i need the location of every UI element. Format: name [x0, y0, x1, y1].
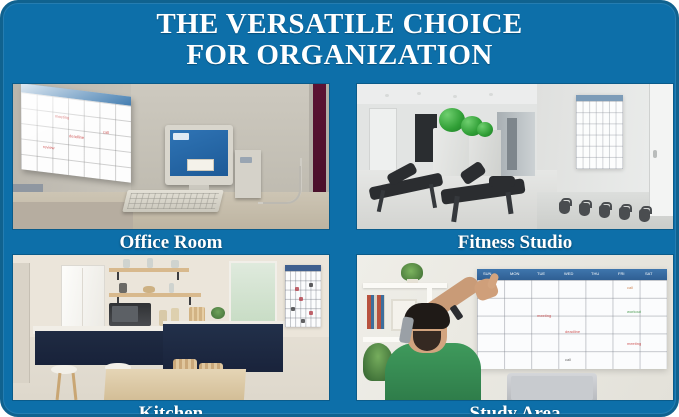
panel-study-area: SUN MON TUE WED THU FRI SAT review call …: [357, 255, 673, 417]
ceiling-light-icon: [489, 93, 493, 96]
calendar-glare: [21, 84, 131, 183]
potted-plant: [211, 307, 225, 319]
microwave: [109, 303, 151, 326]
calendar-note: call: [627, 285, 633, 290]
laptop-screen: [511, 376, 593, 400]
ceiling-light-icon: [385, 94, 389, 97]
office-desk-side: [13, 202, 133, 229]
kitchen-window: [229, 261, 277, 327]
office-cables: [263, 166, 301, 204]
shelf-bowl: [143, 286, 155, 293]
photo-study-area: SUN MON TUE WED THU FRI SAT review call …: [357, 255, 673, 400]
shelf-jar: [147, 258, 153, 268]
calendar-day-thu: THU: [591, 271, 599, 276]
title-line-2: FOR ORGANIZATION: [3, 40, 676, 71]
calendar-day-tue: TUE: [537, 271, 545, 276]
calendar-note: workout: [627, 309, 641, 314]
caption-study-area: Study Area: [357, 401, 673, 417]
shelf-jar: [169, 283, 174, 293]
office-monitor: [165, 125, 233, 185]
calendar-mark: [295, 287, 299, 291]
calendar-mark: [301, 319, 305, 323]
fridge-door-split: [82, 268, 83, 328]
panel-kitchen: Kitchen: [13, 255, 329, 417]
tower-label-icon: [240, 157, 252, 163]
caption-office-room: Office Room: [13, 230, 329, 256]
calendar-day-fri: FRI: [618, 271, 624, 276]
ceiling-light-icon: [453, 95, 457, 98]
calendar-note: deadline: [565, 329, 580, 334]
sticky-note: [187, 159, 214, 171]
calendar-note: meeting: [627, 341, 641, 346]
caption-kitchen: Kitchen: [13, 401, 329, 417]
calendar-mark: [309, 311, 313, 315]
door-handle-icon: [653, 150, 657, 158]
wall-shelf: [109, 268, 189, 272]
poster-container: THE VERSATILE CHOICE FOR ORGANIZATION me…: [0, 0, 679, 417]
calendar-note: call: [565, 357, 571, 362]
kettlebell: [559, 201, 570, 214]
bench-pad: [489, 176, 515, 187]
calendar-day-sat: SAT: [645, 271, 652, 276]
photo-office-room: meeting deadline call review: [13, 84, 329, 229]
kitchen-wall-calendar: [285, 265, 321, 327]
kitchen-door: [13, 263, 30, 383]
shelf-canister: [119, 283, 127, 293]
dining-table: [104, 369, 246, 400]
calendar-grid: [477, 280, 667, 369]
panel-fitness-studio: Fitness Studio: [357, 84, 673, 256]
exercise-ball: [477, 122, 493, 137]
calendar-header-bar: SUN MON TUE WED THU FRI SAT: [477, 269, 667, 280]
gym-door: [369, 108, 397, 172]
page-title: THE VERSATILE CHOICE FOR ORGANIZATION: [3, 9, 676, 72]
wall-shelf: [109, 293, 201, 297]
panel-grid: meeting deadline call review: [13, 84, 673, 386]
kettlebell: [599, 205, 610, 218]
office-wall-calendar: meeting deadline call review: [21, 84, 131, 183]
calendar-mark: [309, 283, 313, 287]
shelf-jar: [123, 259, 130, 268]
books: [367, 295, 385, 329]
laptop: [507, 373, 597, 400]
caption-fitness-studio: Fitness Studio: [357, 230, 673, 256]
brand-logo-icon: [173, 133, 189, 140]
ceiling-light-icon: [417, 92, 421, 95]
photo-fitness-studio: [357, 84, 673, 229]
microwave-window: [112, 306, 138, 322]
calendar-day-wed: WED: [564, 271, 573, 276]
calendar-mark: [299, 297, 303, 301]
bookshelf-top: [363, 283, 447, 288]
keyboard-keys: [127, 193, 219, 209]
panel-office-room: meeting deadline call review: [13, 84, 329, 256]
calendar-note: meeting: [537, 313, 551, 318]
office-keyboard: [122, 190, 223, 212]
gym-machine-post: [507, 118, 517, 170]
photo-kitchen: [13, 255, 329, 400]
kitchen-island: [35, 331, 175, 365]
gym-wall-calendar: [576, 95, 623, 169]
shelf-bowl: [171, 260, 179, 268]
calendar-day-mon: MON: [510, 271, 519, 276]
refrigerator: [61, 265, 105, 331]
kettlebell: [639, 209, 650, 222]
study-wall-calendar: SUN MON TUE WED THU FRI SAT review call …: [477, 269, 667, 369]
calendar-mark: [291, 307, 295, 311]
office-maroon-panel: [313, 84, 326, 200]
kettlebell: [579, 203, 590, 216]
kettlebell: [619, 207, 630, 220]
title-line-1: THE VERSATILE CHOICE: [156, 8, 522, 40]
calendar-grid: [576, 101, 623, 169]
